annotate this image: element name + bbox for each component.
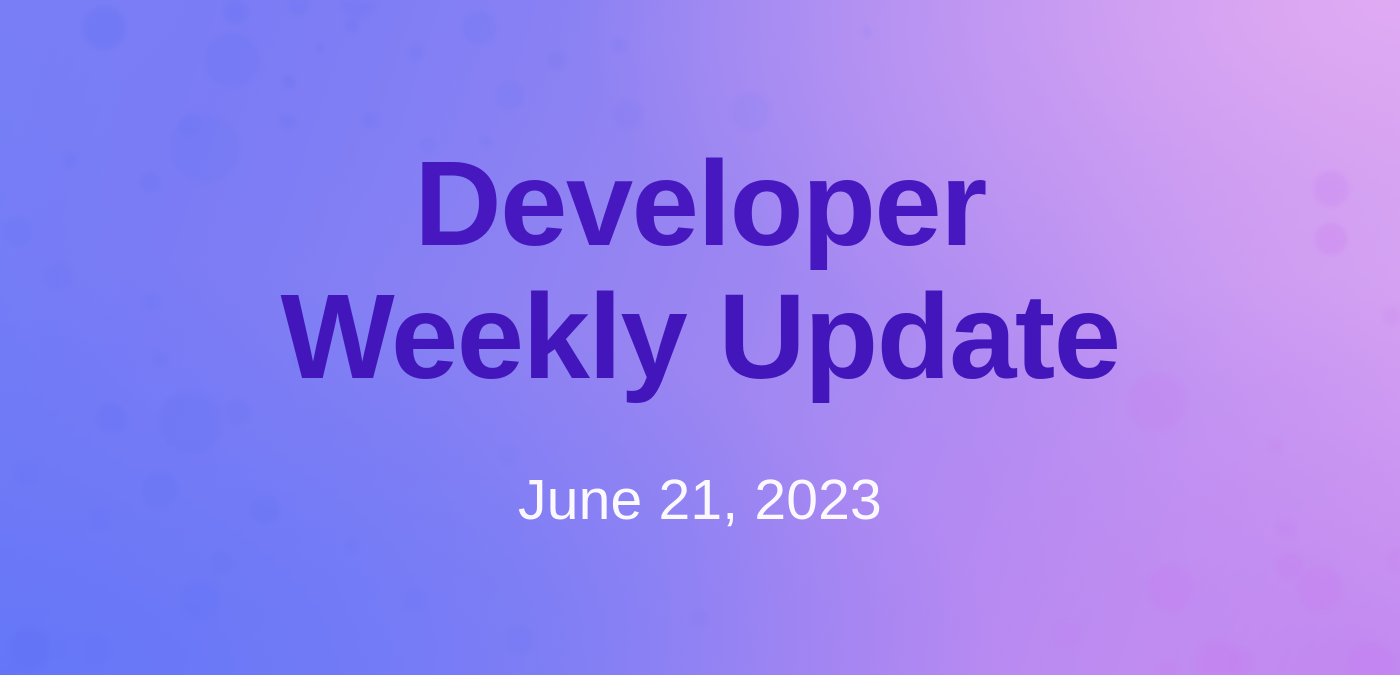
banner-content: Developer Weekly Update June 21, 2023 <box>0 0 1400 675</box>
title-line-developer: Developer <box>280 137 1119 270</box>
page-title: Developer Weekly Update <box>280 137 1119 403</box>
developer-weekly-update-banner: Developer Weekly Update June 21, 2023 <box>0 0 1400 675</box>
issue-date: June 21, 2023 <box>518 469 882 531</box>
title-line-weekly-update: Weekly Update <box>280 270 1119 403</box>
